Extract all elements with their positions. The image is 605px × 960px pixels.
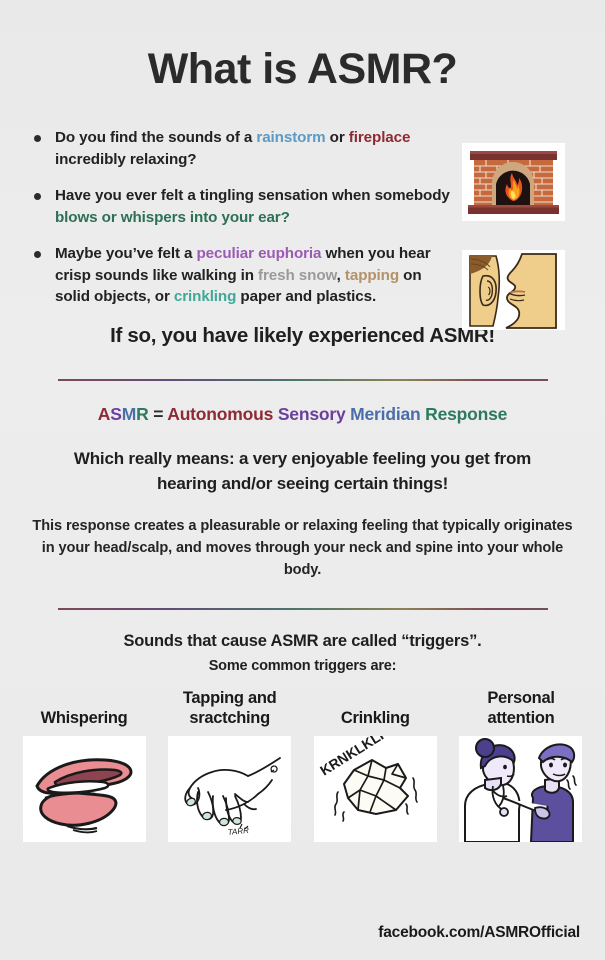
trigger-item-whispering: Whispering [18,688,150,842]
acronym-letter: A [98,404,110,424]
acronym-equals: = [149,404,168,424]
acronym-word: Autonomous [167,404,273,424]
acronym-word: Sensory [273,404,345,424]
text-run: tapping [345,267,399,284]
acronym-word: Response [421,404,508,424]
acronym-words: Autonomous Sensory Meridian Response [167,404,507,424]
bullet-dot-icon [34,251,41,258]
bullet-text: Have you ever felt a tingling sensation … [55,185,450,228]
text-run: fireplace [349,129,411,146]
text-run: Do you find the sounds of a [55,129,256,146]
acronym-word: Meridian [345,404,420,424]
text-run: rainstorm [256,129,325,146]
trigger-item-personal-attention: Personal attention [455,688,587,842]
text-run: Maybe you’ve felt a [55,245,197,262]
fireplace-illustration [462,143,565,221]
trigger-item-crinkling: Crinkling [309,688,441,842]
lips-whispering-illustration [23,736,146,842]
text-run: paper and plastics. [236,288,376,305]
acronym-letters: ASMR [98,404,149,424]
infographic-page: What is ASMR? Do you find the sounds of … [0,0,605,960]
acronym-letter: R [136,404,148,424]
page-title: What is ASMR? [0,0,605,91]
bullet-dot-icon [34,135,41,142]
trigger-label: Personal attention [455,688,587,728]
triggers-subheading: Some common triggers are: [0,658,605,674]
acronym-letter: M [122,404,136,424]
bullet-dot-icon [34,193,41,200]
bullet-text: Maybe you’ve felt a peculiar euphoria wh… [55,243,450,308]
footer-link[interactable]: facebook.com/ASMROfficial [378,924,580,942]
trigger-label: Tapping and sractching [164,688,296,728]
trigger-label: Whispering [18,688,150,728]
list-item: Maybe you’ve felt a peculiar euphoria wh… [34,243,450,308]
divider [58,379,548,381]
text-run: , [337,267,345,284]
text-run: blows or whispers into your ear? [55,209,290,226]
ear-whisper-illustration [462,250,565,330]
acronym-letter: S [110,404,121,424]
text-run: crinkling [174,288,236,305]
definition-text: Which really means: a very enjoyable fee… [0,447,605,496]
text-run: Have you ever felt a tingling sensation … [55,187,450,204]
bullet-text: Do you find the sounds of a rainstorm or… [55,127,450,170]
acronym-line: ASMR = Autonomous Sensory Meridian Respo… [0,404,605,425]
response-text: This response creates a pleasurable or r… [0,516,605,582]
text-run: fresh snow [258,267,337,284]
text-run: incredibly relaxing? [55,151,196,168]
triggers-heading: Sounds that cause ASMR are called “trigg… [0,632,605,651]
bullet-list: Do you find the sounds of a rainstorm or… [0,127,450,308]
list-item: Do you find the sounds of a rainstorm or… [34,127,450,170]
text-run: or [326,129,349,146]
trigger-item-tapping: Tapping and sractching [164,688,296,842]
trigger-label: Crinkling [309,688,441,728]
text-run: peculiar euphoria [197,245,322,262]
hand-tapping-illustration: TARR [168,736,291,842]
list-item: Have you ever felt a tingling sensation … [34,185,450,228]
crumpled-paper-illustration: KRNKLKLKL [314,736,437,842]
triggers-grid: Whispering Tapping and sractching [0,688,605,842]
doctor-patient-illustration [459,736,582,842]
divider [58,608,548,610]
